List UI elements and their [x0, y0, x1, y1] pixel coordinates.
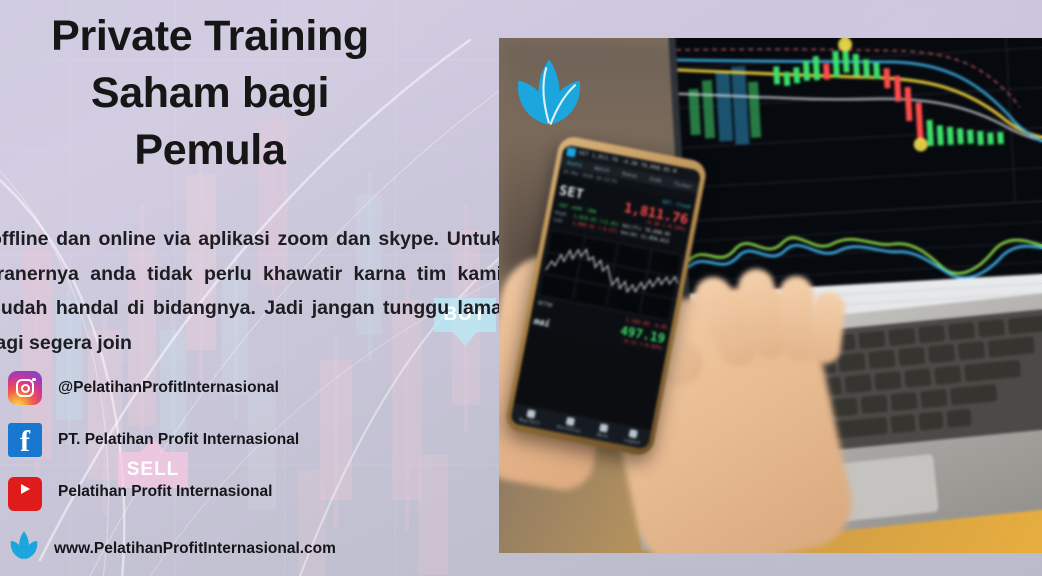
facebook-icon: f — [8, 423, 42, 457]
contact-row-youtube[interactable]: Pelatihan Profit Internasional — [8, 466, 478, 518]
tab-queue[interactable]: Queue — [622, 170, 638, 179]
mai-index-name: mai — [533, 316, 551, 329]
laptop-candlestick-panel — [675, 38, 1042, 221]
hero-photo: SET 1,811.76 -4.30 76,098.95 M Quote Wat… — [499, 38, 1042, 553]
website-url: www.PelatihanProfitInternasional.com — [54, 540, 336, 558]
facebook-page-name: PT. Pelatihan Profit Internasional — [58, 431, 299, 449]
instagram-icon — [8, 371, 42, 405]
contact-row-instagram[interactable]: @PelatihanProfitInternasional — [8, 362, 478, 414]
promotional-poster: BUY SELL Private Training Saham bagi Pem… — [0, 0, 1042, 576]
nav-logout[interactable]: Logout — [624, 428, 642, 446]
youtube-icon — [8, 477, 42, 511]
tab-watch[interactable]: Watch — [594, 165, 610, 174]
page-title: Private Training Saham bagi Pemula — [0, 8, 420, 178]
lotus-watermark-icon — [506, 54, 592, 155]
body-copy: offline dan online via aplikasi zoom dan… — [0, 222, 502, 361]
contact-row-website[interactable]: www.PelatihanProfitInternasional.com — [8, 518, 478, 576]
headline-line-1: Private Training — [0, 8, 420, 65]
contact-list: @PelatihanProfitInternasional f PT. Pela… — [8, 362, 478, 576]
headline-line-2: Saham bagi — [0, 65, 420, 122]
nav-portfolio[interactable]: Portfolio — [556, 415, 582, 434]
index-name: SET — [558, 183, 585, 202]
youtube-channel-name: Pelatihan Profit Internasional — [58, 483, 272, 501]
contact-row-facebook[interactable]: f PT. Pelatihan Profit Internasional — [8, 414, 478, 466]
lotus-icon — [2, 527, 46, 571]
headline-line-3: Pemula — [0, 122, 420, 179]
nav-buy-sell[interactable]: Buy/Sell — [519, 407, 543, 426]
body-copy-text: offline dan online via aplikasi zoom dan… — [0, 222, 502, 361]
tab-side[interactable]: Side — [649, 176, 662, 184]
tab-ticker[interactable]: Ticker — [674, 180, 693, 189]
instagram-handle: @PelatihanProfitInternasional — [58, 379, 279, 397]
tab-quote[interactable]: Quote — [567, 160, 583, 169]
nav-more[interactable]: More — [597, 423, 610, 440]
